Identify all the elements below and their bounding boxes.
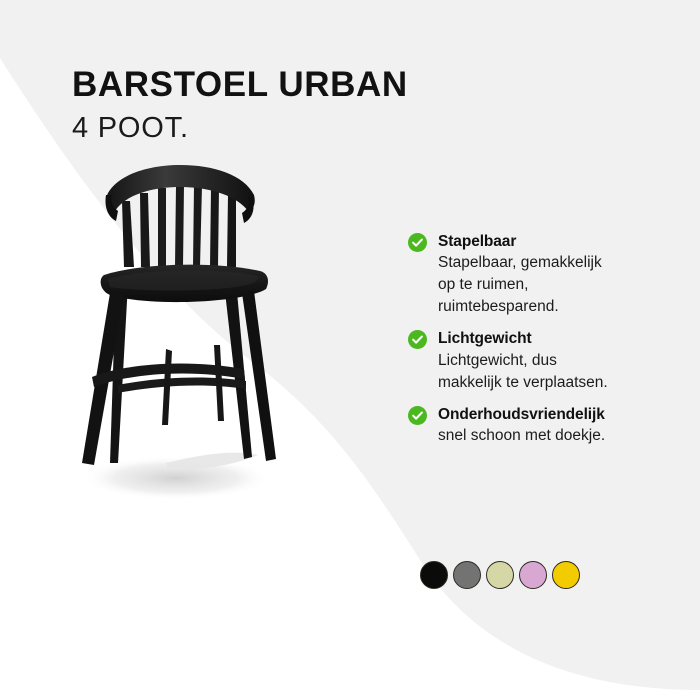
footrest-back [118, 378, 246, 393]
backrest-spindles [122, 185, 236, 267]
feature-title: Lichtgewicht [438, 329, 670, 348]
color-swatch-cream[interactable] [486, 561, 514, 589]
feature-list: Stapelbaar Stapelbaar, gemakkelijk op te… [408, 232, 670, 447]
page-title: BARSTOEL URBAN [72, 66, 408, 104]
feature-description: snel schoon met doekje. [438, 425, 623, 447]
feature-item: Stapelbaar Stapelbaar, gemakkelijk op te… [408, 232, 670, 318]
feature-item: Onderhoudsvriendelijk snel schoon met do… [408, 405, 670, 447]
color-swatch-yellow[interactable] [552, 561, 580, 589]
check-circle-icon [408, 406, 427, 425]
feature-title: Onderhoudsvriendelijk [438, 405, 670, 424]
color-swatch-pink[interactable] [519, 561, 547, 589]
product-image [48, 163, 308, 508]
check-circle-icon [408, 233, 427, 252]
feature-title: Stapelbaar [438, 232, 670, 251]
feature-description: Lichtgewicht, dus makkelijk te verplaats… [438, 350, 623, 394]
color-swatch-grey[interactable] [453, 561, 481, 589]
product-banner: BARSTOEL URBAN 4 POOT. [0, 0, 700, 700]
page-subtitle: 4 POOT. [72, 113, 408, 145]
barstool-illustration [48, 163, 308, 508]
feature-item: Lichtgewicht Lichtgewicht, dus makkelijk… [408, 329, 670, 393]
title-block: BARSTOEL URBAN 4 POOT. [72, 66, 408, 145]
color-swatch-black[interactable] [420, 561, 448, 589]
color-swatch-list[interactable] [420, 561, 580, 589]
footrest-strut-left [162, 349, 172, 425]
check-circle-icon [408, 330, 427, 349]
feature-description: Stapelbaar, gemakkelijk op te ruimen, ru… [438, 252, 623, 318]
